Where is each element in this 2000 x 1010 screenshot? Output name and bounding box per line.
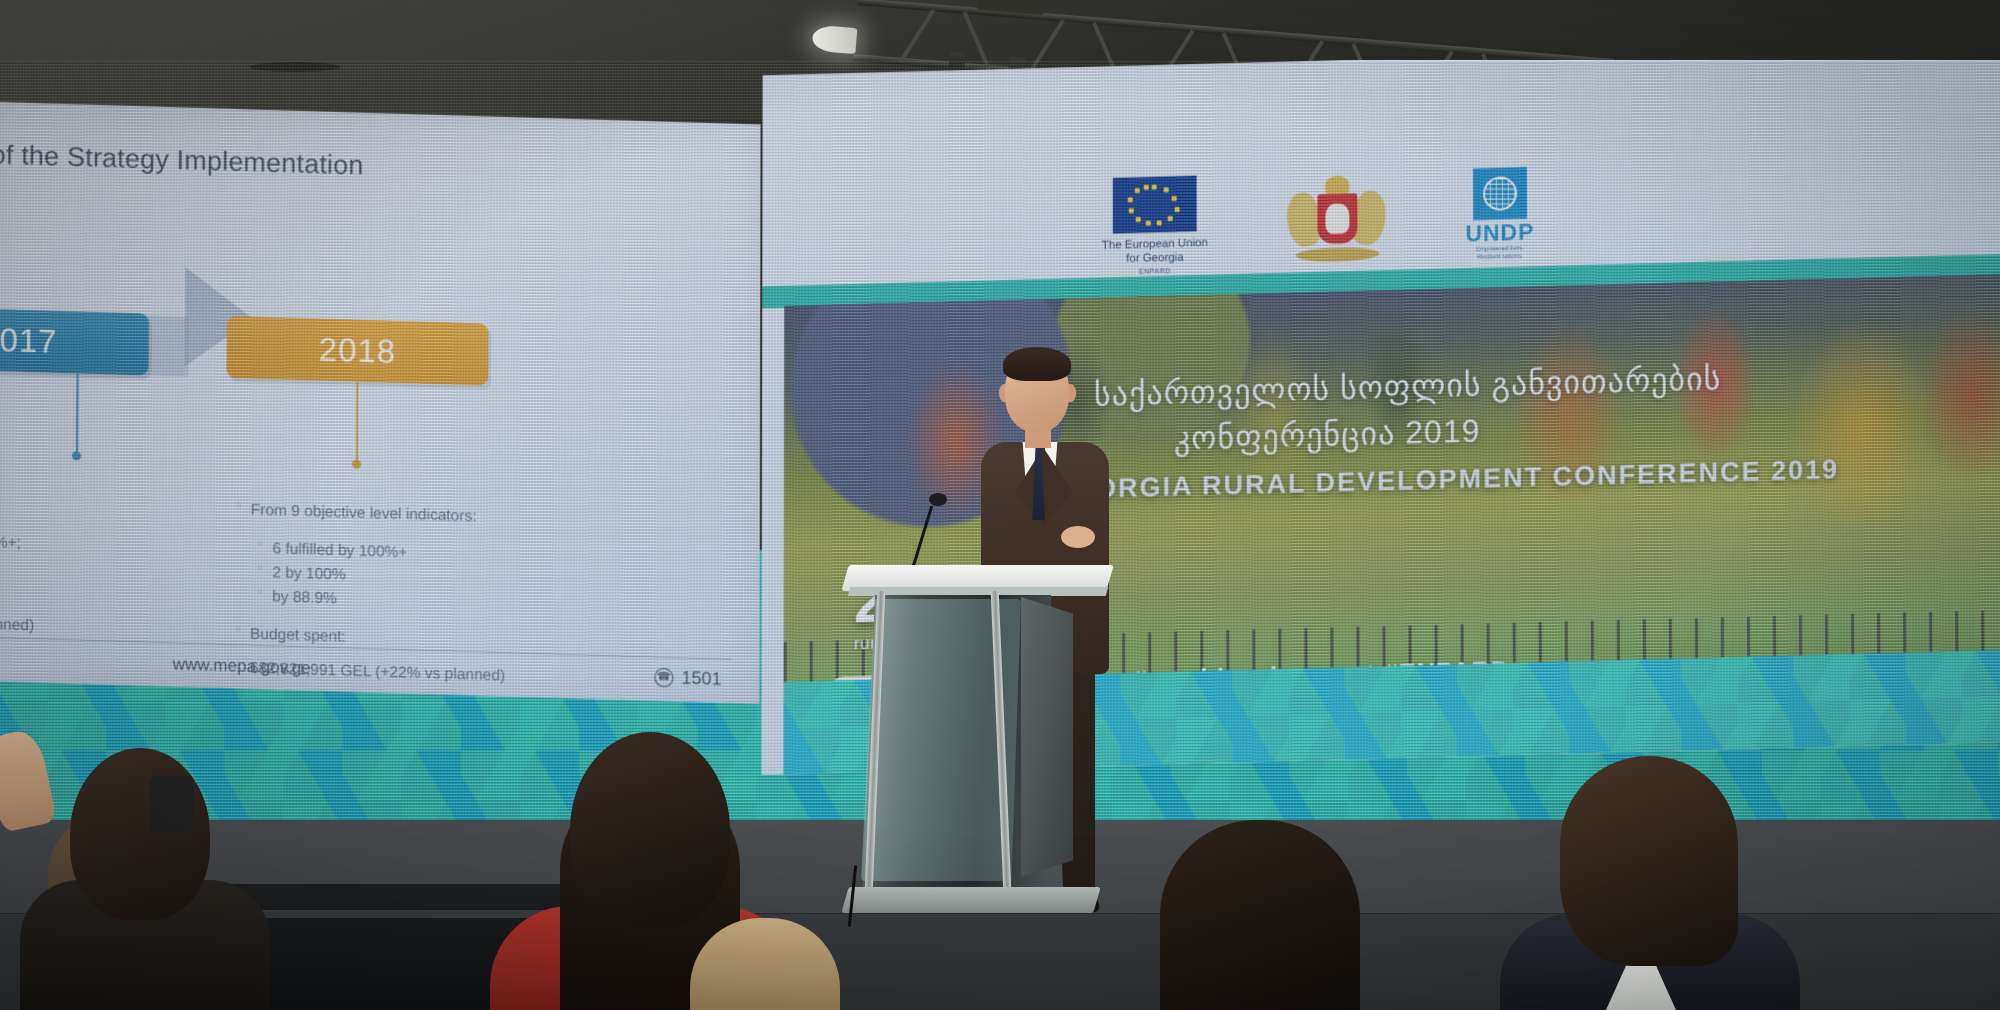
microphone-icon: [929, 493, 947, 506]
callout-dot-2017: [72, 451, 81, 460]
budget-label: Budget spent:: [235, 622, 596, 657]
eu-caption-line2: for Georgia: [1126, 252, 1183, 265]
audience-head: [570, 732, 730, 928]
conference-stage-scene: ults of the Strategy Implementation 2017…: [0, 0, 2000, 1010]
audience-head: [1560, 756, 1738, 966]
slide-title: ults of the Strategy Implementation: [0, 138, 364, 181]
column-header: r level indicators:: [0, 487, 188, 521]
logo-row: The European Union for Georgia ENPARD: [1102, 167, 1535, 278]
column-header: From 9 objective level indicators:: [236, 498, 596, 533]
coat-of-arms-icon: [1282, 170, 1392, 269]
undp-globe-icon: [1473, 167, 1527, 220]
hotline-number: 1501: [681, 668, 721, 690]
callout-stem-2018: [356, 382, 358, 464]
undp-caption-line2: Resilient nations.: [1477, 254, 1523, 261]
audience: [0, 750, 2000, 1010]
audience-head: [70, 748, 210, 920]
eu-flag-icon: [1113, 176, 1197, 234]
website-url: www.mepa.gov.ge: [173, 654, 311, 678]
year-chip-2017: 2017: [0, 306, 149, 376]
undp-caption-line1: Empowered lives.: [1476, 246, 1523, 253]
slide-column-2017: r level indicators: d by 100% or 100%+; …: [0, 487, 188, 643]
year-chip-2018: 2018: [226, 316, 488, 386]
eu-caption-line1: The European Union: [1102, 237, 1208, 252]
indicator-list: 6 fulfilled by 100%+ 2 by 100% by 88.9%: [235, 536, 596, 619]
objective-header-list: From 9 objective level indicators:: [236, 498, 596, 533]
undp-logo: UNDP Empowered lives. Resilient nations.: [1465, 167, 1534, 263]
undp-caption: Empowered lives. Resilient nations.: [1465, 246, 1534, 263]
undp-letters: UNDP: [1465, 222, 1534, 245]
callout-stem-2017: [76, 373, 79, 455]
indicator-list: d by 100% or 100%+; d partially; lled.: [0, 527, 188, 609]
eu-caption: The European Union for Georgia ENPARD: [1102, 236, 1208, 278]
callout-dot-2018: [352, 459, 361, 468]
presentation-slide-panel: ults of the Strategy Implementation 2017…: [0, 101, 761, 704]
headphones-icon: [150, 776, 194, 834]
phone-icon: ☎: [654, 668, 673, 688]
budget-list: Budget spent:: [235, 622, 596, 657]
hotline: ☎ 1501: [654, 667, 721, 690]
georgia-coat-of-arms: [1282, 170, 1392, 269]
hand: [1061, 526, 1095, 548]
banner-title-georgian-line2: კონფერენცია 2019: [1174, 412, 1480, 458]
audience-member-center: [1160, 820, 1360, 1010]
truss-diagonal: [899, 9, 936, 63]
eu-logo: The European Union for Georgia ENPARD: [1102, 175, 1208, 278]
